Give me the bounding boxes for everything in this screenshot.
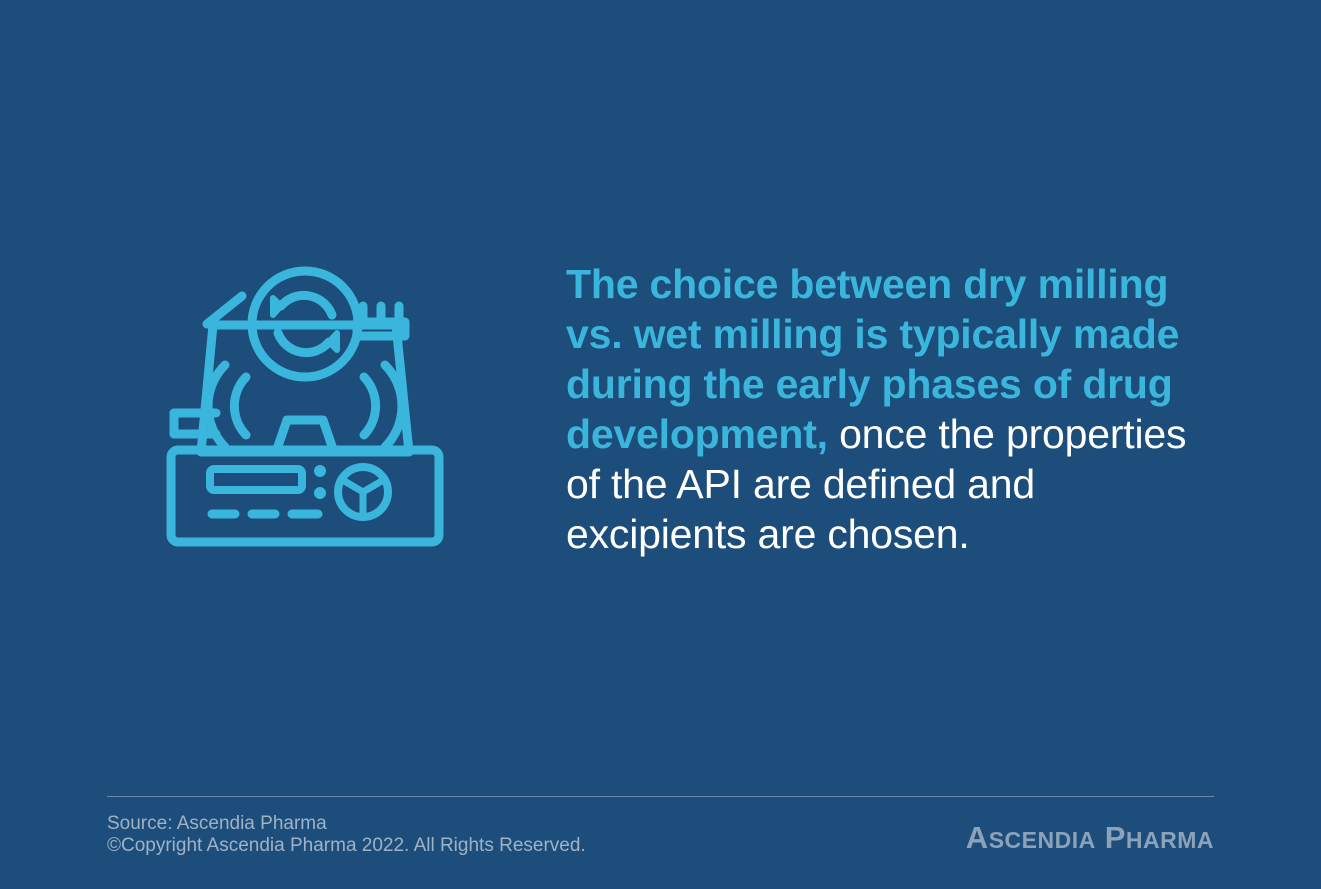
source-line: Source: Ascendia Pharma — [107, 813, 586, 835]
ascendia-pharma-logo: ASCENDIAPHARMA — [966, 822, 1214, 860]
logo-word1-rest: SCENDIA — [989, 827, 1096, 853]
logo-word2-cap: P — [1105, 820, 1126, 855]
footer-divider — [107, 796, 1214, 797]
slide-canvas: The choice between dry milling vs. wet m… — [0, 0, 1321, 889]
quote-paragraph: The choice between dry milling vs. wet m… — [566, 259, 1216, 559]
milling-machine-icon — [160, 262, 450, 552]
logo-word1-cap: A — [966, 820, 989, 855]
quote-block: The choice between dry milling vs. wet m… — [566, 259, 1216, 559]
copyright-line: ©Copyright Ascendia Pharma 2022. All Rig… — [107, 835, 586, 857]
footer-credits: Source: Ascendia Pharma ©Copyright Ascen… — [107, 813, 586, 857]
logo-word2-rest: HARMA — [1126, 827, 1214, 853]
